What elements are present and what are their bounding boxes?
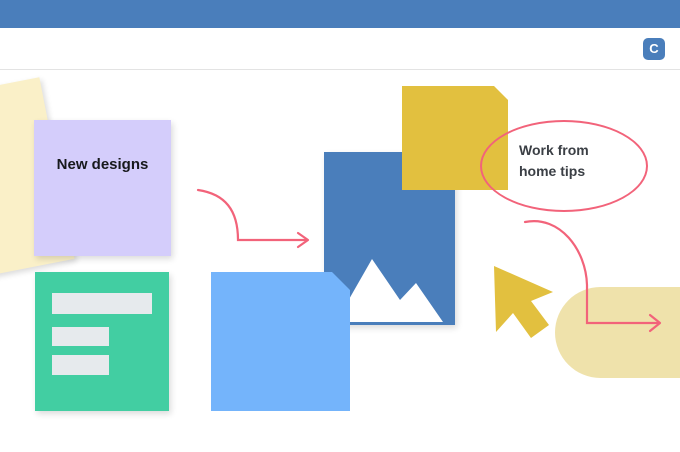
shape-cream-pill[interactable] [555,287,680,378]
app-window: C New designs Work from home tips [0,0,680,452]
speech-bubble-line-2: home tips [519,161,639,182]
speech-bubble-text: Work from home tips [519,140,639,182]
speech-bubble-line-1: Work from [519,140,639,161]
card-green-list[interactable] [35,272,169,411]
app-logo-badge[interactable]: C [643,38,665,60]
whiteboard-canvas[interactable]: New designs Work from home tips [0,70,680,452]
sticky-note-new-designs[interactable]: New designs [34,120,171,256]
sticky-note-new-designs-label: New designs [34,156,171,173]
cursor-pointer-icon[interactable] [494,266,553,338]
card-light-blue[interactable] [211,272,350,411]
toolbar [0,28,680,70]
title-bar [0,0,680,28]
arrow-left-icon [198,190,308,247]
list-bar-2 [52,327,109,346]
list-bar-3 [52,355,109,375]
list-bar-1 [52,293,152,314]
